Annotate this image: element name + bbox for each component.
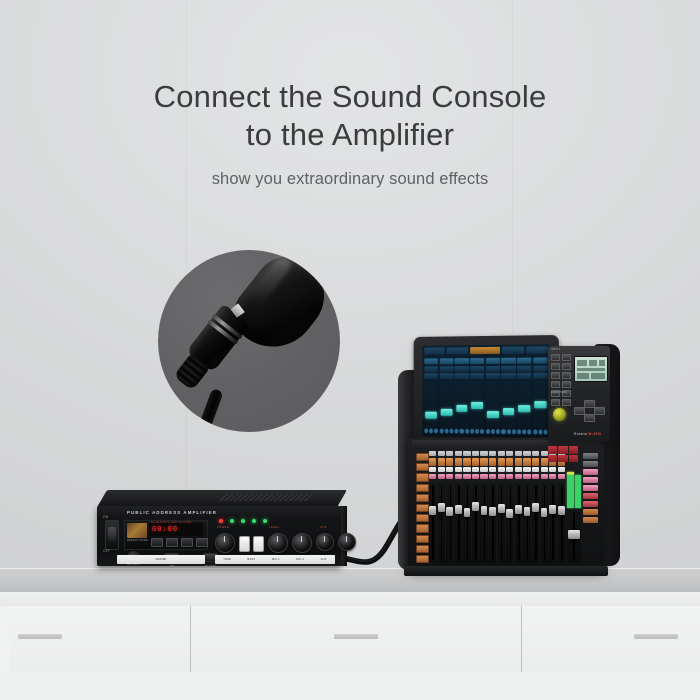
tablet-mixer-app[interactable] <box>414 335 559 447</box>
fader-cap[interactable] <box>498 504 505 513</box>
console-button-r4[interactable] <box>446 474 453 480</box>
tablet-strip-cell <box>470 358 484 364</box>
tablet-fader-handle[interactable] <box>456 405 468 412</box>
console-button-r4[interactable] <box>532 474 539 480</box>
console-button-r1[interactable] <box>532 451 539 456</box>
sd-card-label: SD CARD <box>205 565 217 568</box>
tablet-channel-strip[interactable] <box>517 358 531 436</box>
headings-block: Connect the Sound Console to the Amplifi… <box>0 78 700 189</box>
tablet-strip-cell <box>486 365 500 371</box>
console-button-r3[interactable] <box>523 467 530 472</box>
vu-segment <box>575 487 582 489</box>
vu-segment <box>575 464 582 466</box>
drawer-right[interactable] <box>522 606 700 673</box>
cursor-dpad[interactable] <box>574 400 604 420</box>
tablet-fader-track[interactable] <box>486 380 500 427</box>
console-button-r1[interactable] <box>515 451 522 456</box>
tablet-knob[interactable] <box>496 429 500 434</box>
amp-label-strip-left: MASTER <box>117 555 205 564</box>
console-right-button[interactable] <box>583 453 598 459</box>
console-button-r3[interactable] <box>438 467 445 472</box>
drawer-handle-icon <box>18 634 62 639</box>
xlr-plug <box>167 304 250 397</box>
tablet-channel-strip[interactable] <box>501 358 515 436</box>
master-fader-cap[interactable] <box>568 530 581 539</box>
amp-mode-label: REPEAT MODE <box>127 539 148 542</box>
amp-display-digits: 00:00 <box>152 525 178 533</box>
console-button-r2[interactable] <box>480 458 487 466</box>
input-select-button[interactable] <box>551 363 560 370</box>
tablet-fader-track[interactable] <box>501 380 515 427</box>
console-button-r3[interactable] <box>515 467 522 472</box>
console-side-button[interactable] <box>416 524 429 532</box>
console-right-button[interactable] <box>583 509 598 515</box>
console-button-r1[interactable] <box>438 451 445 456</box>
tablet-fader-track[interactable] <box>517 380 531 428</box>
console-button-r4[interactable] <box>472 474 479 480</box>
fader-track[interactable] <box>429 483 436 564</box>
tablet-strip-cell <box>424 366 438 372</box>
fader-track[interactable] <box>549 483 556 564</box>
console-button-r1[interactable] <box>472 451 479 456</box>
console-red-pad[interactable] <box>569 446 578 454</box>
drawer-center[interactable] <box>191 606 522 673</box>
fader-cap[interactable] <box>489 507 496 516</box>
fader-track[interactable] <box>532 483 539 564</box>
console-button-r2[interactable] <box>498 458 505 466</box>
vu-segment <box>575 496 582 498</box>
tablet-knob[interactable] <box>460 429 464 434</box>
tablet-strip-cell <box>501 373 515 379</box>
console-button-r1[interactable] <box>429 451 436 456</box>
amp-led-screen: 00:00 <box>149 523 203 536</box>
console-button-r2[interactable] <box>489 458 496 466</box>
console-side-button[interactable] <box>416 555 429 563</box>
console-side-button[interactable] <box>416 484 429 492</box>
vu-segment <box>575 490 582 492</box>
fader-cap[interactable] <box>549 505 556 514</box>
tablet-fader-handle[interactable] <box>487 411 499 418</box>
console-button-r3[interactable] <box>558 467 565 472</box>
tablet-knob-row[interactable] <box>486 429 500 435</box>
tablet-strip-cell <box>470 373 484 379</box>
input-select-button[interactable] <box>551 354 560 361</box>
console-button-r1[interactable] <box>455 451 462 456</box>
input-select-button[interactable] <box>562 372 571 379</box>
input-select-button[interactable] <box>562 381 571 388</box>
tablet-fader-handle[interactable] <box>441 409 453 416</box>
console-button-r3[interactable] <box>489 467 496 472</box>
counter-edge <box>0 592 700 607</box>
power-off-label: OFF <box>103 549 110 553</box>
console-button-r4[interactable] <box>523 474 530 480</box>
console-button-r3[interactable] <box>446 467 453 472</box>
fader-cap[interactable] <box>506 509 513 518</box>
input-select-button[interactable] <box>551 372 560 379</box>
button-row-2[interactable] <box>429 458 565 466</box>
fader-track[interactable] <box>438 483 445 564</box>
tablet-knob[interactable] <box>434 429 438 434</box>
console-button-r2[interactable] <box>506 458 513 466</box>
tablet-toolbar-cell <box>424 347 445 354</box>
tablet-fader-handle[interactable] <box>534 401 546 408</box>
tablet-strip-cell <box>455 366 469 372</box>
console-button-r2[interactable] <box>446 458 453 466</box>
fader-track[interactable] <box>472 483 479 564</box>
knob-mic1[interactable] <box>316 533 334 551</box>
tablet-knob[interactable] <box>522 429 526 434</box>
tablet-channel-strip[interactable] <box>439 358 453 434</box>
ch2-button[interactable] <box>253 536 264 552</box>
console-red-pads[interactable] <box>548 446 578 462</box>
console-button-r2[interactable] <box>523 458 530 466</box>
console-side-button[interactable] <box>416 514 429 522</box>
tablet-fader-track[interactable] <box>455 381 469 428</box>
fader-cap[interactable] <box>464 508 471 517</box>
button-row-4[interactable] <box>429 474 565 480</box>
ch1-button[interactable] <box>239 536 250 552</box>
pa-amplifier: PUBLIC ADDRESS AMPLIFIER ON OFF BLUETOOT… <box>97 490 347 568</box>
led-label-clip: CLIP <box>320 525 327 529</box>
console-button-r1[interactable] <box>498 451 505 456</box>
channel-faders[interactable] <box>429 483 565 564</box>
knob-bass[interactable] <box>292 533 312 553</box>
drawer-handle-icon <box>634 634 678 639</box>
drawer-handle-icon <box>334 634 378 639</box>
power-switch[interactable] <box>105 520 119 550</box>
console-right-button[interactable] <box>583 461 598 467</box>
console-button-r3[interactable] <box>498 467 505 472</box>
input-select-button[interactable] <box>562 354 571 361</box>
console-right-button[interactable] <box>583 517 598 523</box>
fader-track[interactable] <box>455 483 462 564</box>
console-button-r3[interactable] <box>549 467 556 472</box>
console-right-buttons[interactable] <box>583 451 598 563</box>
fader-track[interactable] <box>523 483 530 564</box>
console-side-button[interactable] <box>416 473 429 481</box>
fader-track[interactable] <box>558 483 565 564</box>
console-button-r1[interactable] <box>523 451 530 456</box>
input-select-button[interactable] <box>562 363 571 370</box>
tablet-channel-strip[interactable] <box>455 358 469 435</box>
input-select-button[interactable] <box>551 381 560 388</box>
vu-segment <box>575 502 582 504</box>
vu-segment <box>575 484 582 486</box>
console-side-button[interactable] <box>416 504 429 512</box>
tablet-strip-cell <box>439 366 453 372</box>
console-button-r4[interactable] <box>455 474 462 480</box>
tablet-knob-row[interactable] <box>533 429 548 435</box>
amp-brand-label: PUBLIC ADDRESS AMPLIFIER <box>127 510 217 515</box>
drawer-left[interactable] <box>10 606 191 673</box>
tablet-knob[interactable] <box>439 429 443 434</box>
tablet-channel-strip[interactable] <box>533 357 548 435</box>
tablet-knob-row[interactable] <box>455 429 469 435</box>
fader-track[interactable] <box>515 483 522 564</box>
vu-segment <box>567 502 574 504</box>
console-button-r1[interactable] <box>506 451 513 456</box>
tablet-knob[interactable] <box>543 430 547 435</box>
next-button[interactable] <box>181 538 193 547</box>
fader-cap[interactable] <box>532 503 539 512</box>
tablet-knob[interactable] <box>470 429 474 434</box>
amp-strip-label: MIC 1 <box>272 558 280 561</box>
fader-track[interactable] <box>498 483 505 564</box>
console-button-r4[interactable] <box>429 474 436 480</box>
console-button-r2[interactable] <box>438 458 445 466</box>
console-side-buttons[interactable] <box>416 451 429 563</box>
tablet-strip-cell <box>439 373 453 379</box>
console-button-r2[interactable] <box>515 458 522 466</box>
console-button-r4[interactable] <box>498 474 505 480</box>
tablet-strip-cell <box>455 358 469 364</box>
console-right-button[interactable] <box>583 469 598 475</box>
tablet-knob-row[interactable] <box>439 429 453 435</box>
model-text: M-200i <box>589 432 602 436</box>
console-button-r4[interactable] <box>506 474 513 480</box>
tablet-knob[interactable] <box>475 429 479 434</box>
fader-cap[interactable] <box>446 507 453 516</box>
tablet-fader-handle[interactable] <box>503 408 515 415</box>
amp-vent-grille <box>219 494 317 501</box>
tablet-strip-cell <box>533 365 548 371</box>
tablet-knob[interactable] <box>527 429 531 434</box>
tablet-knob[interactable] <box>538 430 542 435</box>
stop-button[interactable] <box>196 538 208 547</box>
fader-track[interactable] <box>541 483 548 564</box>
tablet-strip-cell <box>486 373 500 379</box>
amp-strip-label: TREB <box>223 558 231 561</box>
usb-port-label: USB <box>169 565 174 568</box>
tablet-knob-row[interactable] <box>501 429 515 435</box>
console-right-button[interactable] <box>583 485 598 491</box>
tablet-knob-row[interactable] <box>424 428 438 434</box>
level-led-4 <box>263 519 267 523</box>
tablet-channel-strip[interactable] <box>424 358 438 434</box>
console-button-r4[interactable] <box>489 474 496 480</box>
tablet-fader-track[interactable] <box>470 381 484 428</box>
vu-segment <box>567 499 574 501</box>
page-title-line1: Connect the Sound Console <box>0 78 700 116</box>
level-led-3 <box>252 519 256 523</box>
tablet-knob[interactable] <box>512 429 516 434</box>
console-button-r4[interactable] <box>515 474 522 480</box>
fader-track[interactable] <box>463 483 470 564</box>
fader-cap[interactable] <box>481 506 488 515</box>
fader-cap[interactable] <box>558 506 565 515</box>
tablet-fader-track[interactable] <box>424 381 438 427</box>
console-button-r3[interactable] <box>472 467 479 472</box>
console-side-button[interactable] <box>416 463 429 471</box>
brand-text: Roland <box>574 432 587 436</box>
tablet-strip-cell <box>439 358 453 364</box>
console-button-r3[interactable] <box>506 467 513 472</box>
fader-cap[interactable] <box>455 505 462 514</box>
console-red-pad[interactable] <box>558 455 567 463</box>
xlr-connector-closeup <box>158 250 340 432</box>
prev-button[interactable] <box>151 538 163 547</box>
tablet-knob[interactable] <box>506 429 510 434</box>
tablet-toolbar-cell <box>502 347 524 354</box>
console-button-r4[interactable] <box>558 474 565 480</box>
value-encoder-knob[interactable] <box>553 408 566 421</box>
console-brand-label: Roland M-200i <box>574 432 601 436</box>
console-button-r3[interactable] <box>429 467 436 472</box>
vu-segment <box>575 478 582 480</box>
console-button-r2[interactable] <box>532 458 539 466</box>
tablet-knob[interactable] <box>444 429 448 434</box>
console-button-r2[interactable] <box>455 458 462 466</box>
console-button-r4[interactable] <box>549 474 556 480</box>
tablet-fader-handle[interactable] <box>425 412 437 419</box>
vu-segment <box>575 493 582 495</box>
console-button-r2[interactable] <box>472 458 479 466</box>
console-red-pad[interactable] <box>569 455 578 463</box>
tablet-strip-cell <box>517 373 531 379</box>
console-button-r4[interactable] <box>541 474 548 480</box>
vu-segment <box>575 470 582 472</box>
tablet-knob[interactable] <box>480 429 484 434</box>
button-row-1[interactable] <box>429 451 565 456</box>
console-button-r3[interactable] <box>532 467 539 472</box>
tablet-channel-strip[interactable] <box>470 358 484 435</box>
console-red-pad[interactable] <box>548 446 557 454</box>
console-button-r1[interactable] <box>541 451 548 456</box>
vu-segment <box>575 475 582 477</box>
tablet-strip-cell <box>455 373 469 379</box>
tablet-strip-cell <box>470 366 484 372</box>
console-side-button[interactable] <box>416 545 429 553</box>
amp-transport-buttons[interactable] <box>151 538 208 547</box>
level-led-1 <box>230 519 234 523</box>
knob-treble[interactable] <box>268 533 288 553</box>
tablet-knob[interactable] <box>449 429 453 434</box>
vu-segment <box>567 496 574 498</box>
dpad-right-button[interactable] <box>594 407 605 415</box>
knob-mic2[interactable] <box>338 533 356 551</box>
console-button-r2[interactable] <box>541 458 548 466</box>
console-button-r3[interactable] <box>480 467 487 472</box>
console-button-r4[interactable] <box>480 474 487 480</box>
console-side-button[interactable] <box>416 535 429 543</box>
cabinet-plinth <box>0 672 700 700</box>
fader-track[interactable] <box>480 483 487 564</box>
dpad-down-button[interactable] <box>584 414 595 422</box>
fader-track[interactable] <box>489 483 496 564</box>
tablet-fader-handle[interactable] <box>471 402 483 409</box>
tablet-strip-cell <box>533 357 548 363</box>
tablet-knob[interactable] <box>486 429 490 434</box>
tablet-knob[interactable] <box>501 429 505 434</box>
console-side-button[interactable] <box>416 494 429 502</box>
fader-cap[interactable] <box>472 502 479 511</box>
tablet-knob-row[interactable] <box>470 429 484 435</box>
panel-input-label: INPUT <box>551 348 560 351</box>
console-right-button[interactable] <box>583 493 598 499</box>
fader-cap[interactable] <box>438 503 445 512</box>
amp-strip-label: MASTER <box>156 558 167 561</box>
console-button-r4[interactable] <box>438 474 445 480</box>
console-button-r1[interactable] <box>480 451 487 456</box>
power-led <box>219 519 223 523</box>
fader-cap[interactable] <box>515 505 522 514</box>
console-button-r3[interactable] <box>455 467 462 472</box>
tablet-knob[interactable] <box>533 429 537 434</box>
tablet-strip-cell <box>424 358 438 364</box>
vu-segment <box>567 475 574 477</box>
amp-white-buttons[interactable] <box>239 536 264 552</box>
tablet-toolbar-cell <box>447 347 468 354</box>
amp-led-indicators <box>219 519 267 523</box>
console-button-r3[interactable] <box>541 467 548 472</box>
xlr-cable <box>192 388 224 432</box>
tablet-strip-cell <box>501 358 515 364</box>
button-row-3[interactable] <box>429 467 565 472</box>
panel-function-label: FUNCTION <box>551 391 567 394</box>
tablet-toolbar-cell <box>526 346 548 353</box>
amp-strip-label: MIC 2 <box>296 558 304 561</box>
tablet-strip-cell <box>533 373 548 379</box>
tablet-knob-row[interactable] <box>517 429 531 435</box>
console-red-pad[interactable] <box>548 455 557 463</box>
page-subtitle: show you extraordinary sound effects <box>0 170 700 189</box>
console-red-pad[interactable] <box>558 446 567 454</box>
console-button-r1[interactable] <box>489 451 496 456</box>
console-button-r3[interactable] <box>463 467 470 472</box>
amp-strip-label: AUX <box>321 558 327 561</box>
fader-track[interactable] <box>446 483 453 564</box>
tablet-knob[interactable] <box>455 429 459 434</box>
console-side-button[interactable] <box>416 453 429 461</box>
tablet-screen <box>422 344 549 437</box>
fader-cap[interactable] <box>429 506 436 515</box>
tablet-knob[interactable] <box>429 428 433 433</box>
knob-master[interactable] <box>215 533 235 553</box>
tablet-fader-handle[interactable] <box>518 405 530 412</box>
digital-mixing-console: INPUT FUNCTION Roland M-200i <box>398 330 620 582</box>
tablet-knob[interactable] <box>517 429 521 434</box>
master-fader-track[interactable] <box>567 509 581 564</box>
vu-segment <box>567 505 574 507</box>
console-button-r4[interactable] <box>463 474 470 480</box>
tablet-strip-cell <box>517 365 531 371</box>
tablet-knob[interactable] <box>491 429 495 434</box>
tablet-fader-track[interactable] <box>533 380 548 428</box>
input-select-button[interactable] <box>562 399 571 406</box>
fader-cap[interactable] <box>541 508 548 517</box>
vu-segment <box>567 493 574 495</box>
fader-cap[interactable] <box>524 507 531 516</box>
fader-track[interactable] <box>506 483 513 564</box>
console-right-button[interactable] <box>583 501 598 507</box>
console-button-r2[interactable] <box>463 458 470 466</box>
input-button-grid[interactable] <box>551 354 571 406</box>
tablet-knob[interactable] <box>424 428 428 433</box>
input-select-button[interactable] <box>551 399 560 406</box>
tablet-fader-track[interactable] <box>439 381 453 428</box>
vu-segment <box>575 499 582 501</box>
console-button-r1[interactable] <box>463 451 470 456</box>
tablet-toolbar-cell-active <box>470 347 500 354</box>
console-control-panel: INPUT FUNCTION Roland M-200i <box>548 346 610 442</box>
tablet-knob[interactable] <box>465 429 469 434</box>
vu-segment <box>575 472 582 474</box>
console-button-r1[interactable] <box>446 451 453 456</box>
tablet-channel-strip[interactable] <box>486 358 500 435</box>
play-button[interactable] <box>166 538 178 547</box>
console-button-r2[interactable] <box>429 458 436 466</box>
console-right-button[interactable] <box>583 477 598 483</box>
